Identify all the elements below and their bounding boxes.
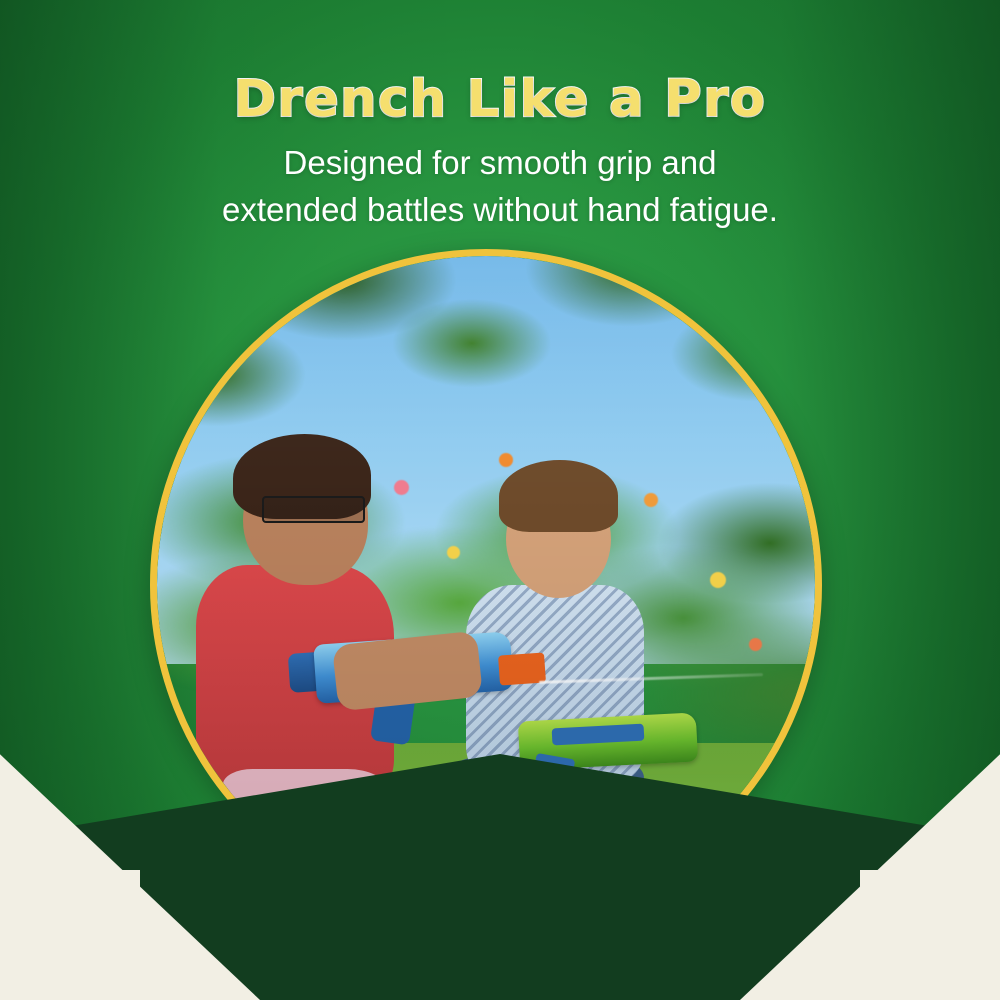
- subtitle-text: Designed for smooth grip and extended ba…: [0, 140, 1000, 234]
- flower-dot: [644, 493, 658, 507]
- bottom-left-cream-block: [0, 870, 140, 1000]
- flower-dot: [447, 546, 460, 559]
- boy-left-glasses: [262, 496, 365, 522]
- page-title: Drench Like a Pro: [0, 72, 1000, 128]
- subtitle-line-1: Designed for smooth grip and: [0, 140, 1000, 187]
- flower-dot: [749, 638, 762, 651]
- subtitle-line-2: extended battles without hand fatigue.: [0, 187, 1000, 234]
- flower-dot: [394, 480, 409, 495]
- flower-dot: [710, 572, 726, 588]
- promo-banner: Drench Like a Pro Designed for smooth gr…: [0, 0, 1000, 1000]
- boy-right-hair: [499, 460, 617, 532]
- bottom-right-cream-block: [860, 870, 1000, 1000]
